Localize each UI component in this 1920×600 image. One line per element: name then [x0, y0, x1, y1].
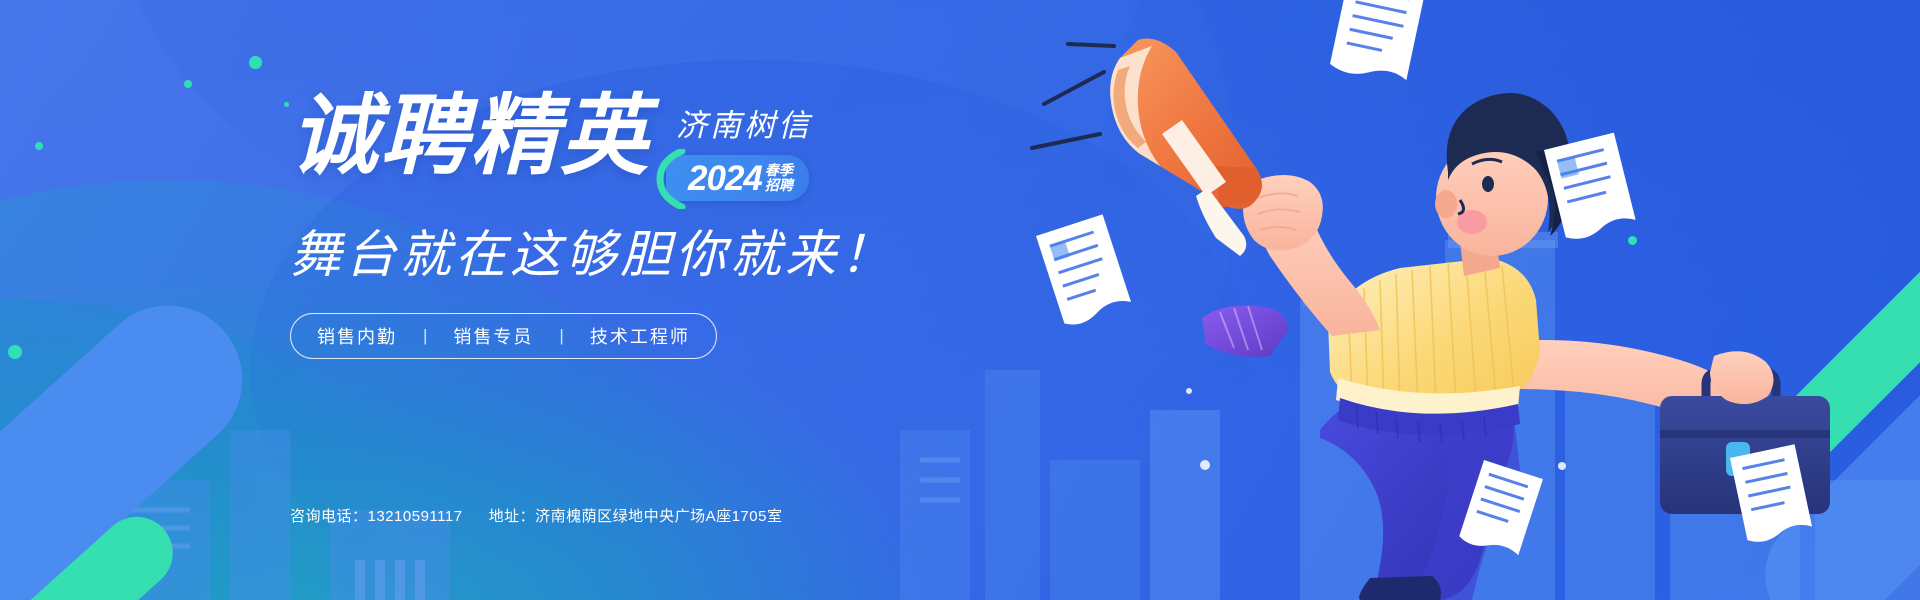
headline-row: 诚聘精英 济南树信 2024 春季 招聘: [290, 92, 990, 201]
job-tag-1[interactable]: 销售专员: [453, 323, 533, 349]
badge-season-line2: 招聘: [765, 177, 793, 193]
company-name: 济南树信: [676, 100, 812, 145]
tag-separator: |: [559, 326, 563, 346]
contact-address-value: 济南槐荫区绿地中央广场A座1705室: [535, 508, 782, 525]
tag-separator: |: [423, 326, 427, 346]
decor-dot: [284, 102, 289, 107]
recruitment-illustration: [1020, 0, 1860, 600]
megaphone-icon: [1110, 39, 1262, 257]
person-eye: [1482, 176, 1494, 192]
page-subtitle: 舞台就在这够胆你就来！: [290, 213, 990, 287]
badge-swoosh-icon: [652, 149, 686, 209]
megaphone-sound-lines: [1032, 44, 1114, 148]
job-tags-pill: 销售内勤 | 销售专员 | 技术工程师: [290, 313, 717, 359]
badge-season: 春季 招聘: [765, 163, 793, 193]
banner-text-block: 诚聘精英 济南树信 2024 春季 招聘 舞台就在这够胆你就来！ 销售内勤 |: [290, 92, 990, 359]
contact-address: 地址：济南槐荫区绿地中央广场A座1705室: [489, 505, 783, 526]
paper-sheet-icon: [1036, 214, 1133, 328]
decor-dot: [35, 142, 43, 150]
person-ear: [1435, 190, 1457, 218]
contact-address-label: 地址：: [489, 508, 536, 525]
decor-dot: [8, 345, 22, 359]
contact-info: 咨询电话：13210591117 地址：济南槐荫区绿地中央广场A座1705室: [290, 505, 782, 526]
year-badge: 2024 春季 招聘: [666, 155, 809, 201]
paper-sheet-icon: [1329, 0, 1426, 85]
contact-phone: 咨询电话：13210591117: [290, 505, 463, 526]
brand-block: 济南树信 2024 春季 招聘: [666, 100, 812, 201]
person-shoe: [1359, 576, 1441, 600]
decor-dot: [184, 80, 192, 88]
contact-phone-value: 13210591117: [368, 508, 463, 525]
badge-season-line1: 春季: [765, 162, 793, 178]
recruitment-banner: 诚聘精英 济南树信 2024 春季 招聘 舞台就在这够胆你就来！ 销售内勤 |: [0, 0, 1920, 600]
person-back-shoe: [1202, 306, 1288, 357]
badge-year: 2024: [688, 161, 762, 196]
job-tag-2[interactable]: 技术工程师: [590, 323, 690, 349]
contact-phone-label: 咨询电话：: [290, 508, 368, 525]
decor-dot: [249, 56, 262, 69]
page-title: 诚聘精英: [290, 92, 650, 180]
job-tag-0[interactable]: 销售内勤: [317, 323, 397, 349]
